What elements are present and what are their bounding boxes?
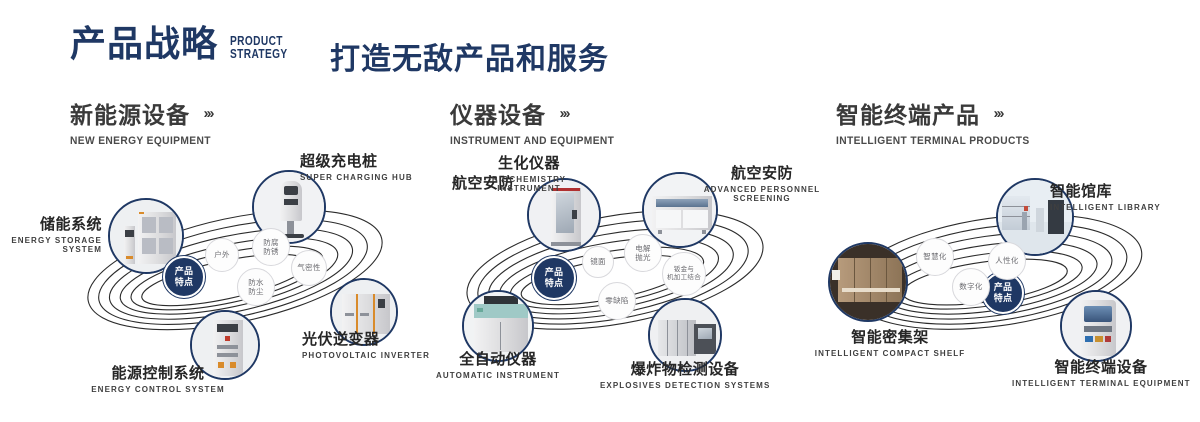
section-heading-new-energy: 新能源设备 ››› NEW ENERGY EQUIPMENT <box>70 96 221 147</box>
label-super-charging-hub: 超级充电桩 SUPER CHARGING HUB <box>300 150 413 182</box>
label-cn: 智能密集架 <box>795 326 985 347</box>
feature-label: 镜面 <box>590 257 606 266</box>
page-title-cn: 产品战略 <box>70 26 218 62</box>
label-intelligent-library: 智能馆库 INTELLIGENT LIBRARY <box>1050 180 1161 212</box>
intelligent-compact-shelf-image <box>830 244 906 320</box>
feature-bubble-anticorrosion[interactable]: 防腐 防锈 <box>252 228 290 266</box>
label-en: EXPLOSIVES DETECTION SYSTEMS <box>600 381 770 390</box>
label-en: ENERGY STORAGE SYSTEM <box>6 236 102 254</box>
feature-label: 数字化 <box>959 282 982 291</box>
chevron-right-icon: ››› <box>993 105 1002 122</box>
center-bubble-line2: 特点 <box>175 277 194 288</box>
label-en: ENERGY CONTROL SYSTEM <box>58 385 258 394</box>
label-cn: 爆炸物检测设备 <box>600 358 770 379</box>
label-explosives-detection-systems: 爆炸物检测设备 EXPLOSIVES DETECTION SYSTEMS <box>600 358 770 390</box>
page-title-en-line2: STRATEGY <box>230 47 288 60</box>
section-title-en: INSTRUMENT AND EQUIPMENT <box>450 135 614 147</box>
center-bubble-line1: 产品 <box>994 282 1013 293</box>
center-bubble-line1: 产品 <box>175 266 194 277</box>
label-en: INTELLIGENT LIBRARY <box>1050 203 1161 212</box>
section-title-cn: 仪器设备 <box>450 96 546 130</box>
node-intelligent-terminal-equipment[interactable] <box>1060 290 1132 362</box>
node-intelligent-compact-shelf[interactable] <box>828 242 908 322</box>
center-bubble-product-features[interactable]: 产品 特点 <box>532 256 576 300</box>
center-bubble-line2: 特点 <box>994 293 1013 304</box>
section-heading-instrument: 仪器设备 ››› INSTRUMENT AND EQUIPMENT <box>450 96 627 147</box>
intelligent-terminal-equipment-image <box>1062 292 1130 360</box>
feature-bubble-smart[interactable]: 智慧化 <box>916 238 954 276</box>
label-automatic-instrument: 全自动仪器 AUTOMATIC INSTRUMENT <box>418 348 578 380</box>
label-cn: 储能系统 <box>6 213 102 234</box>
label-energy-control-system: 能源控制系统 ENERGY CONTROL SYSTEM <box>58 362 258 394</box>
feature-bubble-mirror-finish[interactable]: 镜面 <box>582 246 614 278</box>
feature-bubble-airtightness[interactable]: 气密性 <box>291 250 327 286</box>
label-en: INTELLIGENT TERMINAL EQUIPMENT <box>1012 379 1190 388</box>
label-biochemistry-instrument: 生化仪器 BIOCHEMISTRY INSTRUMENT <box>464 152 594 193</box>
label-cn: 全自动仪器 <box>418 348 578 369</box>
feature-label: 钣金与 机加工结合 <box>667 266 701 282</box>
feature-label: 电解 抛光 <box>635 244 651 263</box>
section-title-en: INTELLIGENT TERMINAL PRODUCTS <box>836 135 1030 147</box>
label-en: INTELLIGENT COMPACT SHELF <box>795 349 985 358</box>
label-cn: 智能终端设备 <box>1012 356 1190 377</box>
diagram-new-energy: 产品 特点 户外 防腐 防锈 防水 防尘 气密性 储能系统 ENERGY STO… <box>30 150 450 410</box>
page-title-en: PRODUCT STRATEGY <box>230 34 288 60</box>
feature-bubble-sheetmetal-machining[interactable]: 钣金与 机加工结合 <box>662 252 706 296</box>
center-bubble-product-features[interactable]: 产品 特点 <box>163 256 205 298</box>
feature-label: 户外 <box>214 250 230 259</box>
diagram-instrument: 产品 特点 镜面 电解 抛光 钣金与 机加工结合 零缺陷 航空安防 生化仪器 B… <box>410 150 830 410</box>
product-strategy-infographic: 产品战略 PRODUCT STRATEGY 打造无敌产品和服务 新能源设备 ››… <box>0 0 1200 422</box>
feature-label: 智慧化 <box>923 252 946 261</box>
label-cn: 智能馆库 <box>1050 180 1161 201</box>
feature-bubble-outdoor[interactable]: 户外 <box>205 238 239 272</box>
chevron-right-icon: ››› <box>203 105 212 122</box>
chevron-right-icon: ››› <box>559 105 568 122</box>
feature-label: 防水 防尘 <box>248 278 264 297</box>
feature-label: 气密性 <box>297 263 320 272</box>
label-cn: 生化仪器 <box>464 152 594 173</box>
feature-label: 零缺陷 <box>605 296 628 305</box>
label-cn: 能源控制系统 <box>58 362 258 383</box>
section-title-cn: 新能源设备 <box>70 96 190 130</box>
label-cn: 超级充电桩 <box>300 150 413 171</box>
center-bubble-line2: 特点 <box>545 278 564 289</box>
feature-bubble-waterproof-dustproof[interactable]: 防水 防尘 <box>237 268 275 306</box>
label-energy-storage-system: 储能系统 ENERGY STORAGE SYSTEM <box>6 213 102 254</box>
label-en: BIOCHEMISTRY INSTRUMENT <box>464 175 594 193</box>
feature-label: 防腐 防锈 <box>263 238 279 257</box>
label-intelligent-compact-shelf: 智能密集架 INTELLIGENT COMPACT SHELF <box>795 326 985 358</box>
diagram-intelligent-terminal: 产品 特点 智慧化 数字化 人性化 智能馆库 INTELLIGENT LIBRA… <box>800 150 1200 410</box>
feature-label: 人性化 <box>995 256 1018 265</box>
label-intelligent-terminal-equipment: 智能终端设备 INTELLIGENT TERMINAL EQUIPMENT <box>1012 356 1190 388</box>
section-title-en: NEW ENERGY EQUIPMENT <box>70 135 211 147</box>
center-bubble-line1: 产品 <box>545 267 564 278</box>
page-subtitle: 打造无敌产品和服务 <box>330 34 609 78</box>
feature-bubble-electropolishing[interactable]: 电解 抛光 <box>624 234 662 272</box>
label-en: SUPER CHARGING HUB <box>300 173 413 182</box>
feature-bubble-humanized[interactable]: 人性化 <box>988 242 1026 280</box>
feature-bubble-digital[interactable]: 数字化 <box>952 268 990 306</box>
section-heading-intelligent-terminal: 智能终端产品 ››› INTELLIGENT TERMINAL PRODUCTS <box>836 96 1044 147</box>
feature-bubble-zero-defect[interactable]: 零缺陷 <box>598 282 636 320</box>
label-en: AUTOMATIC INSTRUMENT <box>418 371 578 380</box>
page-header: 产品战略 PRODUCT STRATEGY <box>70 26 304 62</box>
section-title-cn: 智能终端产品 <box>836 96 980 130</box>
